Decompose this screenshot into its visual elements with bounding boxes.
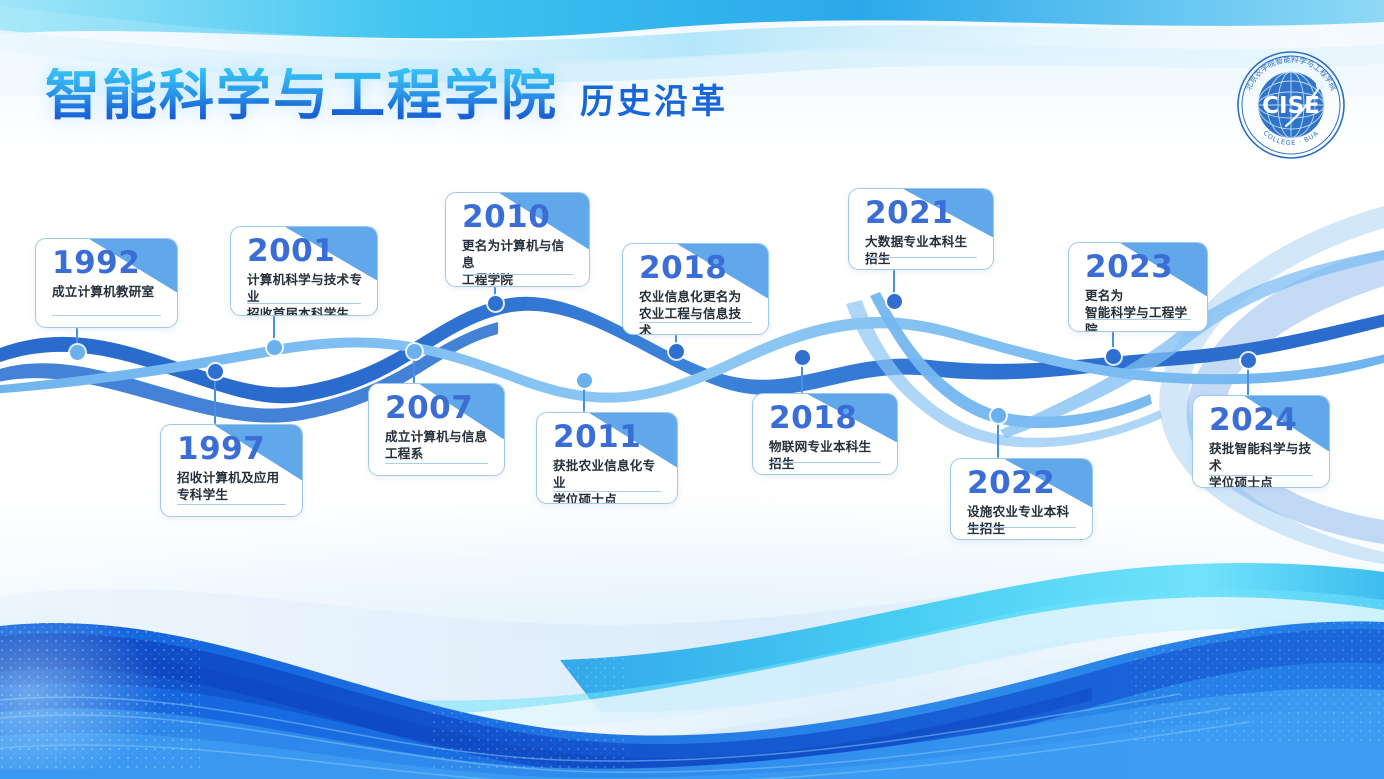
timeline-card-2022[interactable]: 2022设施农业专业本科生招生: [950, 458, 1093, 540]
card-year-2024: 2024: [1209, 404, 1315, 437]
connector-line-2018b: [801, 362, 803, 393]
card-rule-2018a: [639, 322, 752, 323]
page-subtitle: 历史沿革: [580, 85, 728, 123]
card-description-1992: 成立计算机教研室: [52, 283, 163, 300]
timeline-node-dot-2018b[interactable]: [795, 350, 810, 365]
card-body-2021: 2021大数据专业本科生招生: [849, 189, 993, 267]
timeline-node-dot-2018a[interactable]: [669, 344, 684, 359]
card-description-2011: 获批农业信息化专业 学位硕士点: [553, 457, 663, 504]
card-rule-2001: [247, 303, 361, 304]
card-body-2018b: 2018物联网专业本科生招生: [753, 394, 897, 472]
timeline-poster: 1992成立计算机教研室1997招收计算机及应用 专科学生2001计算机科学与技…: [0, 0, 1384, 779]
card-description-2018a: 农业信息化更名为 农业工程与信息技术: [639, 288, 754, 335]
card-description-2024: 获批智能科学与技术 学位硕士点: [1209, 440, 1315, 488]
card-year-2018a: 2018: [639, 252, 754, 285]
card-rule-1997: [177, 504, 286, 505]
card-year-1997: 1997: [177, 433, 288, 466]
card-description-2007: 成立计算机与信息 工程系: [385, 428, 490, 462]
card-rule-1992: [52, 315, 161, 316]
card-year-2001: 2001: [247, 235, 363, 268]
connector-line-2011: [583, 385, 585, 412]
page-title: 智能科学与工程学院: [45, 68, 558, 123]
card-body-2022: 2022设施农业专业本科生招生: [951, 459, 1092, 537]
connector-line-2007: [413, 356, 415, 383]
timeline-node-dot-1997[interactable]: [208, 364, 223, 379]
poster-header: 智能科学与工程学院 历史沿革 CISE 北京: [0, 0, 1384, 175]
logo-acronym: CISE: [1262, 93, 1320, 119]
timeline-card-1992[interactable]: 1992成立计算机教研室: [35, 238, 178, 328]
card-year-2022: 2022: [967, 467, 1078, 500]
card-rule-2010: [462, 274, 573, 275]
card-rule-2021: [865, 257, 977, 258]
connector-line-2022: [997, 420, 999, 458]
card-year-2011: 2011: [553, 421, 663, 454]
timeline-card-2021[interactable]: 2021大数据专业本科生招生: [848, 188, 994, 270]
card-description-2001: 计算机科学与技术专业 招收首届本科学生: [247, 271, 363, 316]
card-description-2018b: 物联网专业本科生招生: [769, 438, 883, 472]
cise-logo: CISE 北京农学院智能科学与工程学院 COLLEGE · BUA: [1236, 50, 1346, 160]
card-year-1992: 1992: [52, 247, 163, 280]
card-rule-2018b: [769, 462, 881, 463]
timeline-node-dot-2023[interactable]: [1106, 349, 1121, 364]
timeline-card-1997[interactable]: 1997招收计算机及应用 专科学生: [160, 424, 303, 517]
timeline-card-2023[interactable]: 2023更名为 智能科学与工程学院: [1068, 242, 1208, 332]
card-description-2023: 更名为 智能科学与工程学院: [1085, 287, 1193, 332]
card-description-2010: 更名为计算机与信息 工程学院: [462, 237, 575, 287]
timeline-card-2024[interactable]: 2024获批智能科学与技术 学位硕士点: [1192, 395, 1330, 488]
card-rule-2007: [385, 463, 488, 464]
timeline-card-2018a[interactable]: 2018农业信息化更名为 农业工程与信息技术: [622, 243, 769, 335]
card-rule-2023: [1085, 319, 1191, 320]
card-body-1997: 1997招收计算机及应用 专科学生: [161, 425, 302, 503]
card-body-2010: 2010更名为计算机与信息 工程学院: [446, 193, 589, 287]
card-rule-2022: [967, 527, 1076, 528]
timeline-node-dot-2011[interactable]: [577, 373, 592, 388]
connector-line-2024: [1247, 365, 1249, 395]
card-body-2007: 2007成立计算机与信息 工程系: [369, 384, 504, 462]
title-group: 智能科学与工程学院 历史沿革: [45, 68, 728, 123]
card-year-2018b: 2018: [769, 402, 883, 435]
timeline-card-2018b[interactable]: 2018物联网专业本科生招生: [752, 393, 898, 475]
timeline-node-dot-2007[interactable]: [407, 344, 422, 359]
card-rule-2011: [553, 491, 661, 492]
card-rule-2024: [1209, 475, 1313, 476]
timeline-node-dot-2001[interactable]: [267, 340, 282, 355]
timeline-node-dot-2010[interactable]: [488, 296, 503, 311]
timeline-card-2011[interactable]: 2011获批农业信息化专业 学位硕士点: [536, 412, 678, 504]
timeline-node-dot-2021[interactable]: [887, 294, 902, 309]
card-description-2021: 大数据专业本科生招生: [865, 233, 979, 267]
connector-line-1997: [214, 376, 216, 424]
card-body-1992: 1992成立计算机教研室: [36, 239, 177, 300]
card-year-2007: 2007: [385, 392, 490, 425]
timeline-card-2001[interactable]: 2001计算机科学与技术专业 招收首届本科学生: [230, 226, 378, 316]
card-year-2021: 2021: [865, 197, 979, 230]
card-description-2022: 设施农业专业本科生招生: [967, 503, 1078, 537]
timeline-node-dot-1992[interactable]: [70, 345, 85, 360]
timeline-node-dot-2022[interactable]: [991, 408, 1006, 423]
card-description-1997: 招收计算机及应用 专科学生: [177, 469, 288, 503]
card-year-2010: 2010: [462, 201, 575, 234]
card-year-2023: 2023: [1085, 251, 1193, 284]
timeline-node-dot-2024[interactable]: [1241, 353, 1256, 368]
timeline-card-2007[interactable]: 2007成立计算机与信息 工程系: [368, 383, 505, 476]
timeline-card-2010[interactable]: 2010更名为计算机与信息 工程学院: [445, 192, 590, 287]
